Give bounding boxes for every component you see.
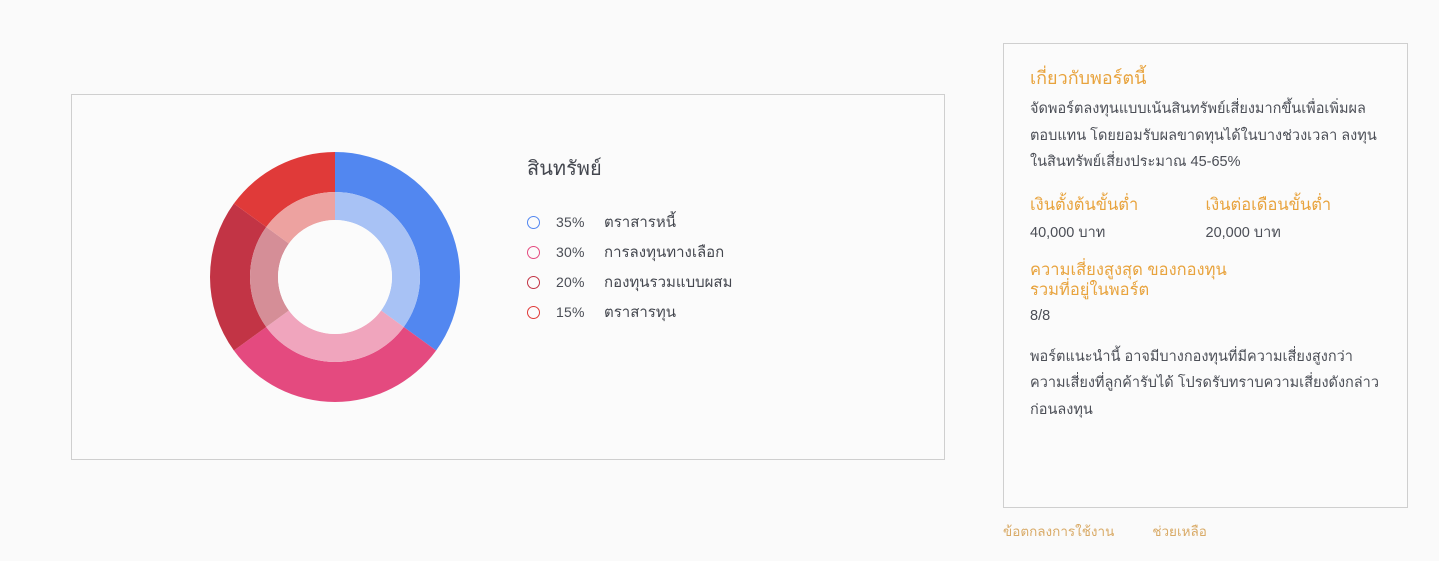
legend-percent: 35% — [556, 214, 600, 230]
legend-label: ตราสารหนี้ — [604, 210, 676, 234]
legend-marker-circle-icon — [527, 306, 540, 319]
legend-label: การลงทุนทางเลือก — [604, 240, 724, 264]
max-risk-value: 8/8 — [1030, 308, 1381, 324]
risk-disclaimer: พอร์ตแนะนำนี้ อาจมีบางกองทุนที่มีความเสี… — [1030, 344, 1381, 423]
legend-item[interactable]: 35%ตราสารหนี้ — [527, 207, 907, 237]
min-monthly-heading: เงินต่อเดือนขั้นต่ำ — [1206, 195, 1382, 216]
min-monthly-value: 20,000 บาท — [1206, 221, 1382, 246]
legend-percent: 30% — [556, 244, 600, 260]
footer-links: ข้อตกลงการใช้งาน ช่วยเหลือ — [1003, 520, 1207, 542]
legend-item[interactable]: 20%กองทุนรวมแบบผสม — [527, 267, 907, 297]
asset-allocation-chart-card: สินทรัพย์ 35%ตราสารหนี้30%การลงทุนทางเลื… — [71, 94, 945, 460]
legend-item[interactable]: 30%การลงทุนทางเลือก — [527, 237, 907, 267]
legend-label: กองทุนรวมแบบผสม — [604, 270, 732, 294]
max-risk-heading: ความเสี่ยงสูงสุด ของกองทุนรวมที่อยู่ในพอ… — [1030, 260, 1230, 300]
donut-chart — [209, 151, 461, 403]
legend-marker-circle-icon — [527, 276, 540, 289]
about-portfolio-body: จัดพอร์ตลงทุนแบบเน้นสินทรัพย์เสี่ยงมากขึ… — [1030, 96, 1381, 175]
legend-list: 35%ตราสารหนี้30%การลงทุนทางเลือก20%กองทุ… — [527, 207, 907, 327]
chart-legend: สินทรัพย์ 35%ตราสารหนี้30%การลงทุนทางเลื… — [527, 157, 907, 327]
donut-hole — [278, 220, 392, 334]
legend-marker-circle-icon — [527, 216, 540, 229]
min-initial-block: เงินตั้งต้นขั้นต่ำ 40,000 บาท — [1030, 195, 1206, 245]
min-initial-value: 40,000 บาท — [1030, 221, 1206, 246]
min-initial-heading: เงินตั้งต้นขั้นต่ำ — [1030, 195, 1206, 216]
legend-label: ตราสารทุน — [604, 300, 676, 324]
page-root: สินทรัพย์ 35%ตราสารหนี้30%การลงทุนทางเลื… — [0, 0, 1439, 561]
help-link[interactable]: ช่วยเหลือ — [1152, 520, 1207, 542]
legend-marker-circle-icon — [527, 246, 540, 259]
min-monthly-block: เงินต่อเดือนขั้นต่ำ 20,000 บาท — [1206, 195, 1382, 245]
portfolio-info-card: เกี่ยวกับพอร์ตนี้ จัดพอร์ตลงทุนแบบเน้นสิ… — [1003, 43, 1408, 508]
legend-title: สินทรัพย์ — [527, 157, 907, 181]
about-portfolio-heading: เกี่ยวกับพอร์ตนี้ — [1030, 66, 1381, 90]
donut-chart-svg — [209, 151, 461, 403]
legend-percent: 20% — [556, 274, 600, 290]
terms-of-use-link[interactable]: ข้อตกลงการใช้งาน — [1003, 520, 1114, 542]
minimums-row: เงินตั้งต้นขั้นต่ำ 40,000 บาท เงินต่อเดื… — [1030, 195, 1381, 245]
legend-percent: 15% — [556, 304, 600, 320]
legend-item[interactable]: 15%ตราสารทุน — [527, 297, 907, 327]
